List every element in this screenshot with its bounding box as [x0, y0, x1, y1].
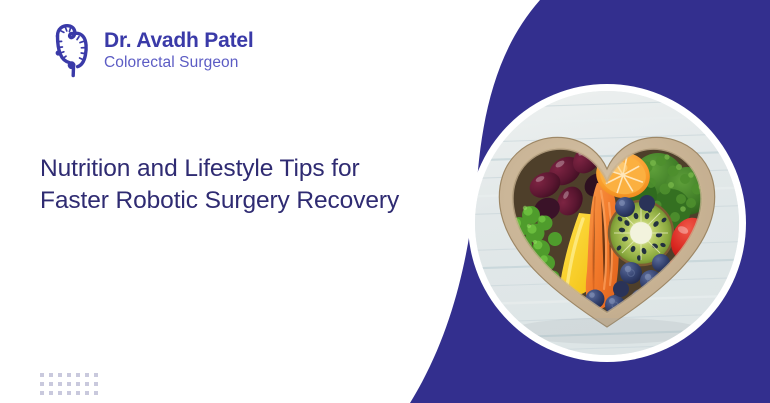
site-logo[interactable]: Dr. Avadh Patel Colorectal Surgeon: [48, 22, 254, 78]
hero-photo-circle: [468, 84, 746, 362]
page-title: Nutrition and Lifestyle Tips for Faster …: [40, 153, 430, 217]
logo-specialty-tagline: Colorectal Surgeon: [104, 55, 254, 71]
blog-banner: Dr. Avadh Patel Colorectal Surgeon Nutri…: [0, 0, 770, 403]
logo-doctor-name: Dr. Avadh Patel: [104, 30, 254, 51]
dot: [91, 379, 100, 388]
dot: [82, 388, 91, 397]
dot: [37, 379, 46, 388]
dot: [73, 388, 82, 397]
dot: [64, 379, 73, 388]
dot: [37, 388, 46, 397]
heart-bowl-healthy-food-photo: [475, 91, 739, 355]
dot: [91, 388, 100, 397]
dot: [73, 379, 82, 388]
dot: [55, 379, 64, 388]
dot: [46, 370, 55, 379]
dot: [91, 370, 100, 379]
dot: [73, 370, 82, 379]
colon-intestine-icon: [48, 22, 94, 78]
dot: [82, 370, 91, 379]
dot: [46, 388, 55, 397]
dot: [55, 388, 64, 397]
dot-grid-decoration: [37, 370, 100, 397]
dot: [37, 370, 46, 379]
dot: [55, 370, 64, 379]
dot: [46, 379, 55, 388]
dot: [64, 388, 73, 397]
dot: [82, 379, 91, 388]
hero-photo-clip: [475, 91, 739, 355]
dot: [64, 370, 73, 379]
logo-wordmark: Dr. Avadh Patel Colorectal Surgeon: [104, 30, 254, 71]
